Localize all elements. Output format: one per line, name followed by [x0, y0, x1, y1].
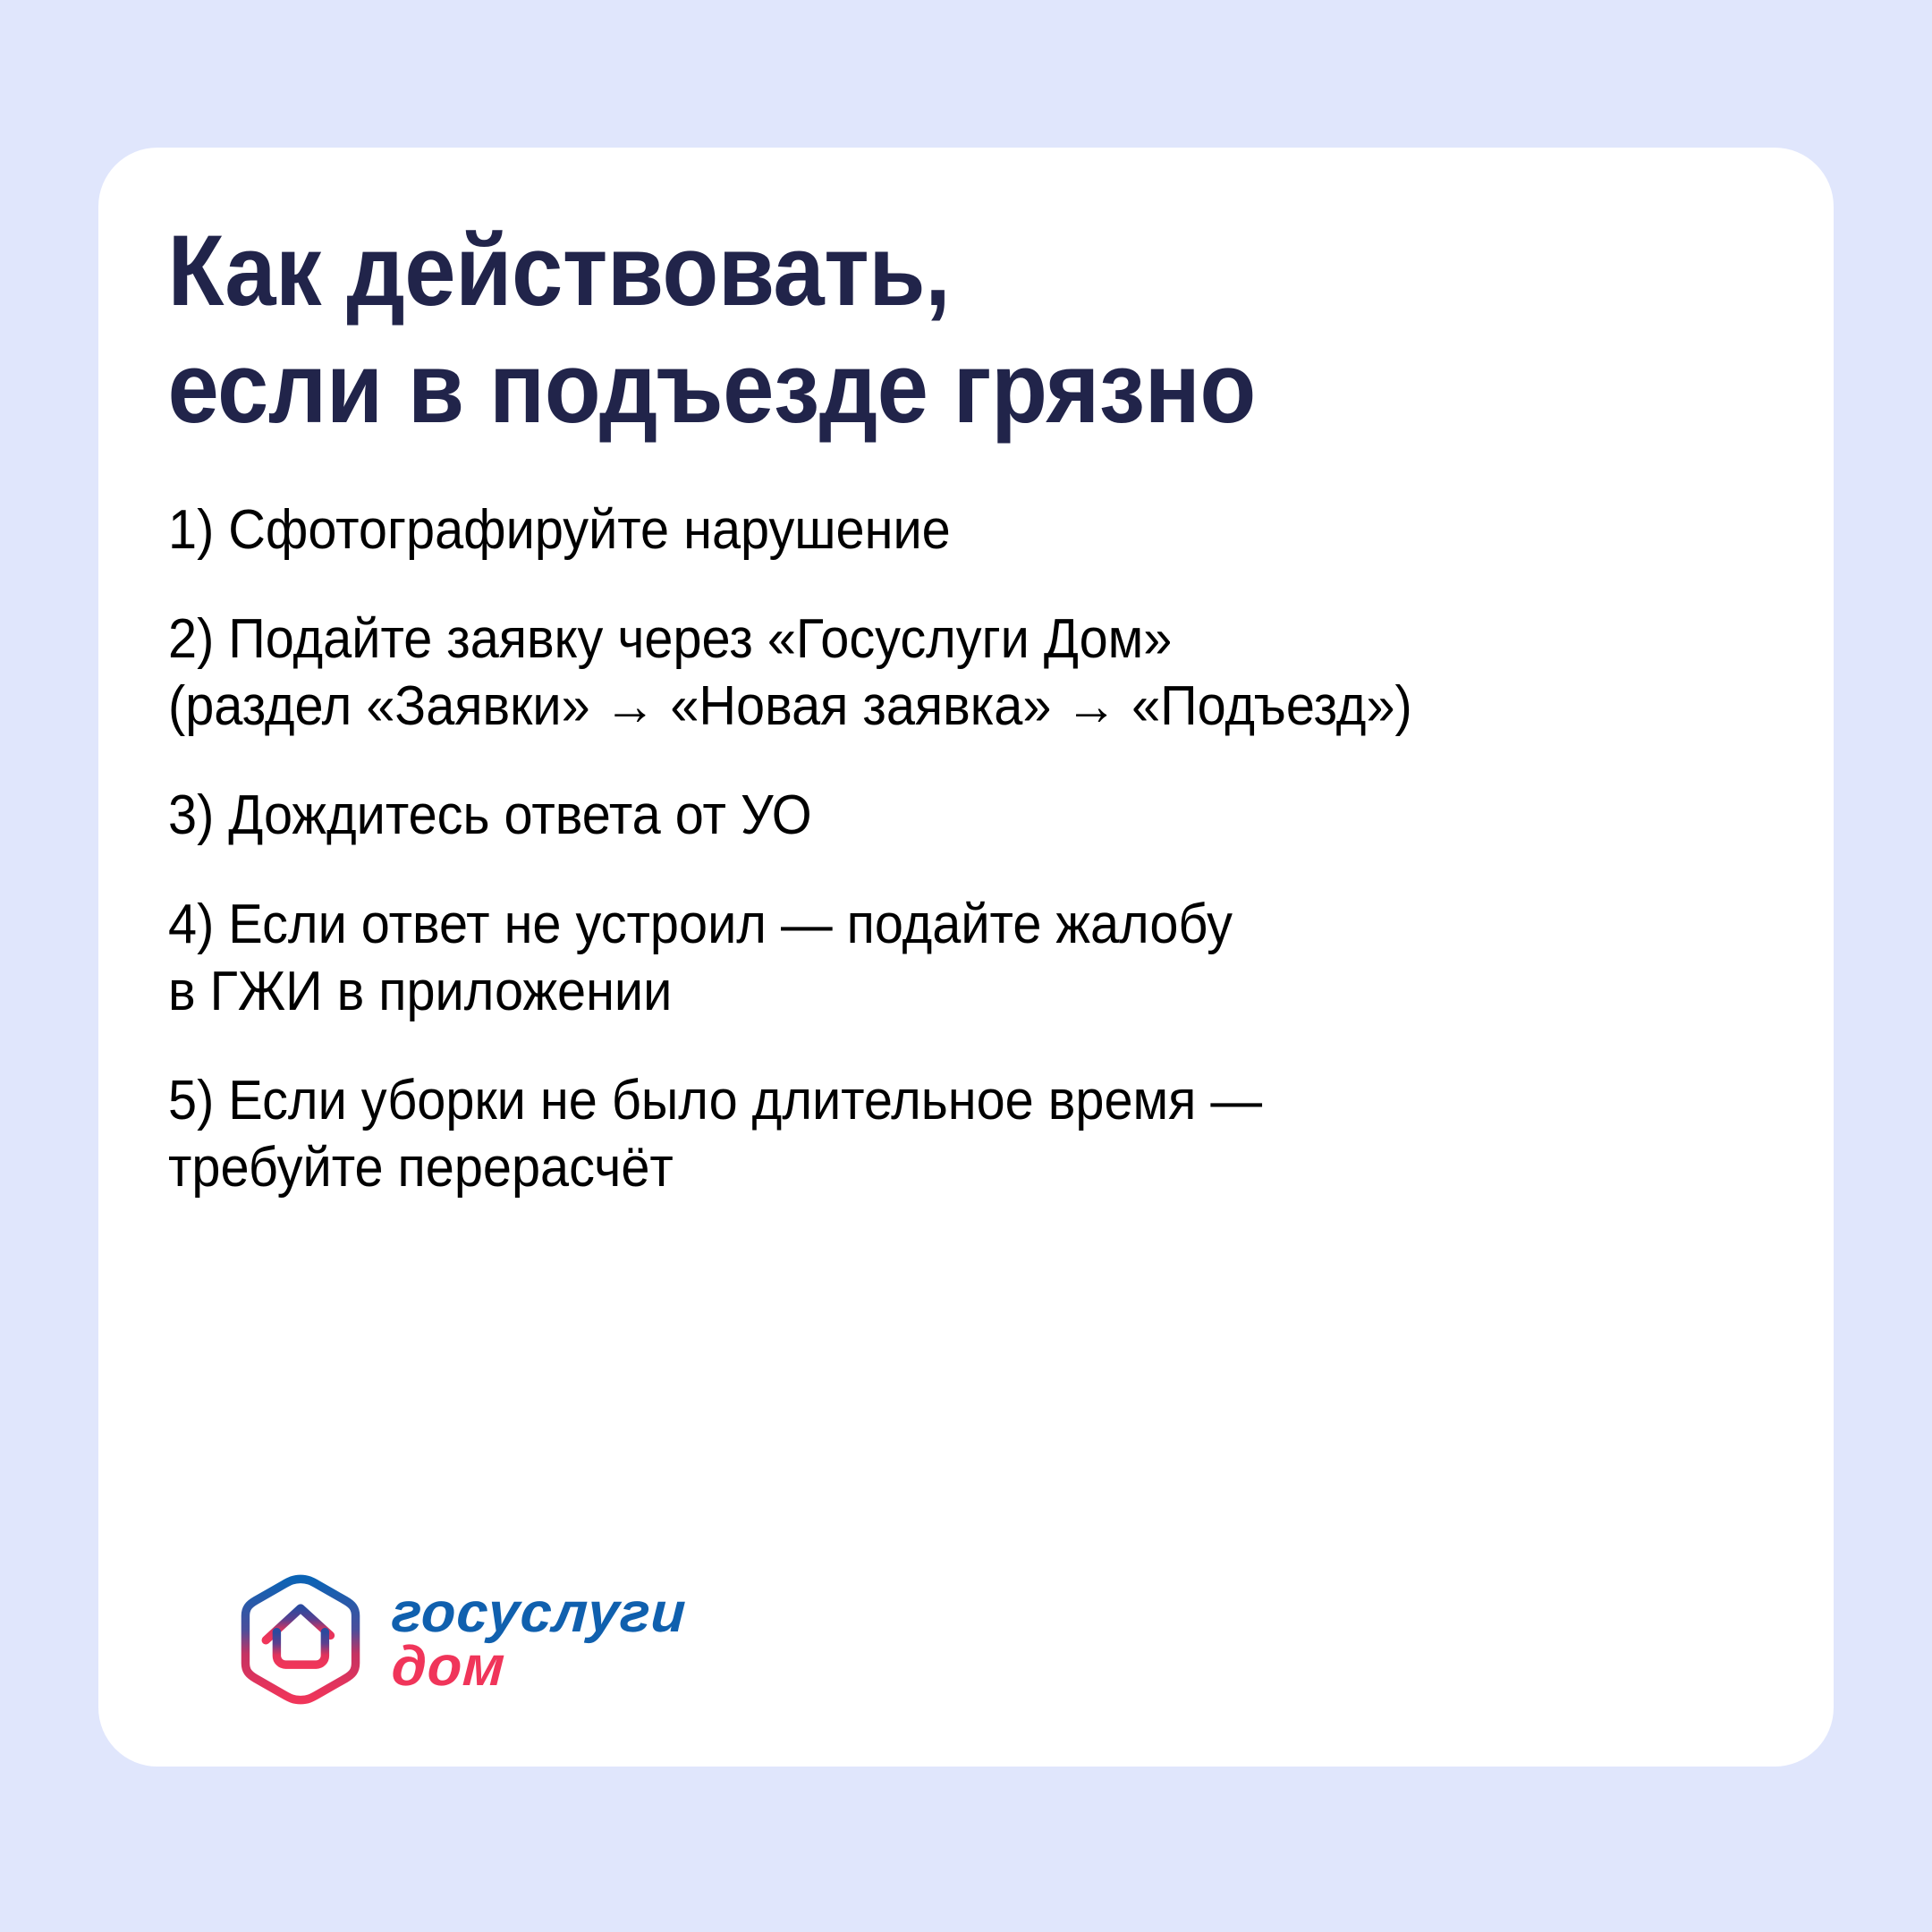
brand-line-dom: Дом	[390, 1640, 687, 1693]
brand-logo: Госуслуги Дом	[233, 1572, 686, 1707]
list-item: 5) Если уборки не было длительное время …	[168, 1067, 1642, 1202]
steps-list: 1) Сфотографируйте нарушение 2) Подайте …	[163, 446, 1753, 1202]
brand-line-gosuslugi: Госуслуги	[390, 1586, 687, 1640]
list-item: 2) Подайте заявку через «Госуслуги Дом» …	[168, 606, 1642, 741]
list-item: 4) Если ответ не устроил — подайте жалоб…	[168, 891, 1642, 1026]
brand-wordmark: Госуслуги Дом	[392, 1586, 686, 1694]
poster-canvas: Как действовать, если в подъезде грязно …	[0, 0, 1932, 1932]
content-card: Как действовать, если в подъезде грязно …	[98, 148, 1834, 1767]
list-item: 1) Сфотографируйте нарушение	[168, 496, 1642, 564]
list-item: 3) Дождитесь ответа от УО	[168, 782, 1642, 850]
gosuslugi-dom-house-hexagon-icon	[233, 1572, 369, 1707]
page-title: Как действовать, если в подъезде грязно	[163, 212, 1626, 446]
